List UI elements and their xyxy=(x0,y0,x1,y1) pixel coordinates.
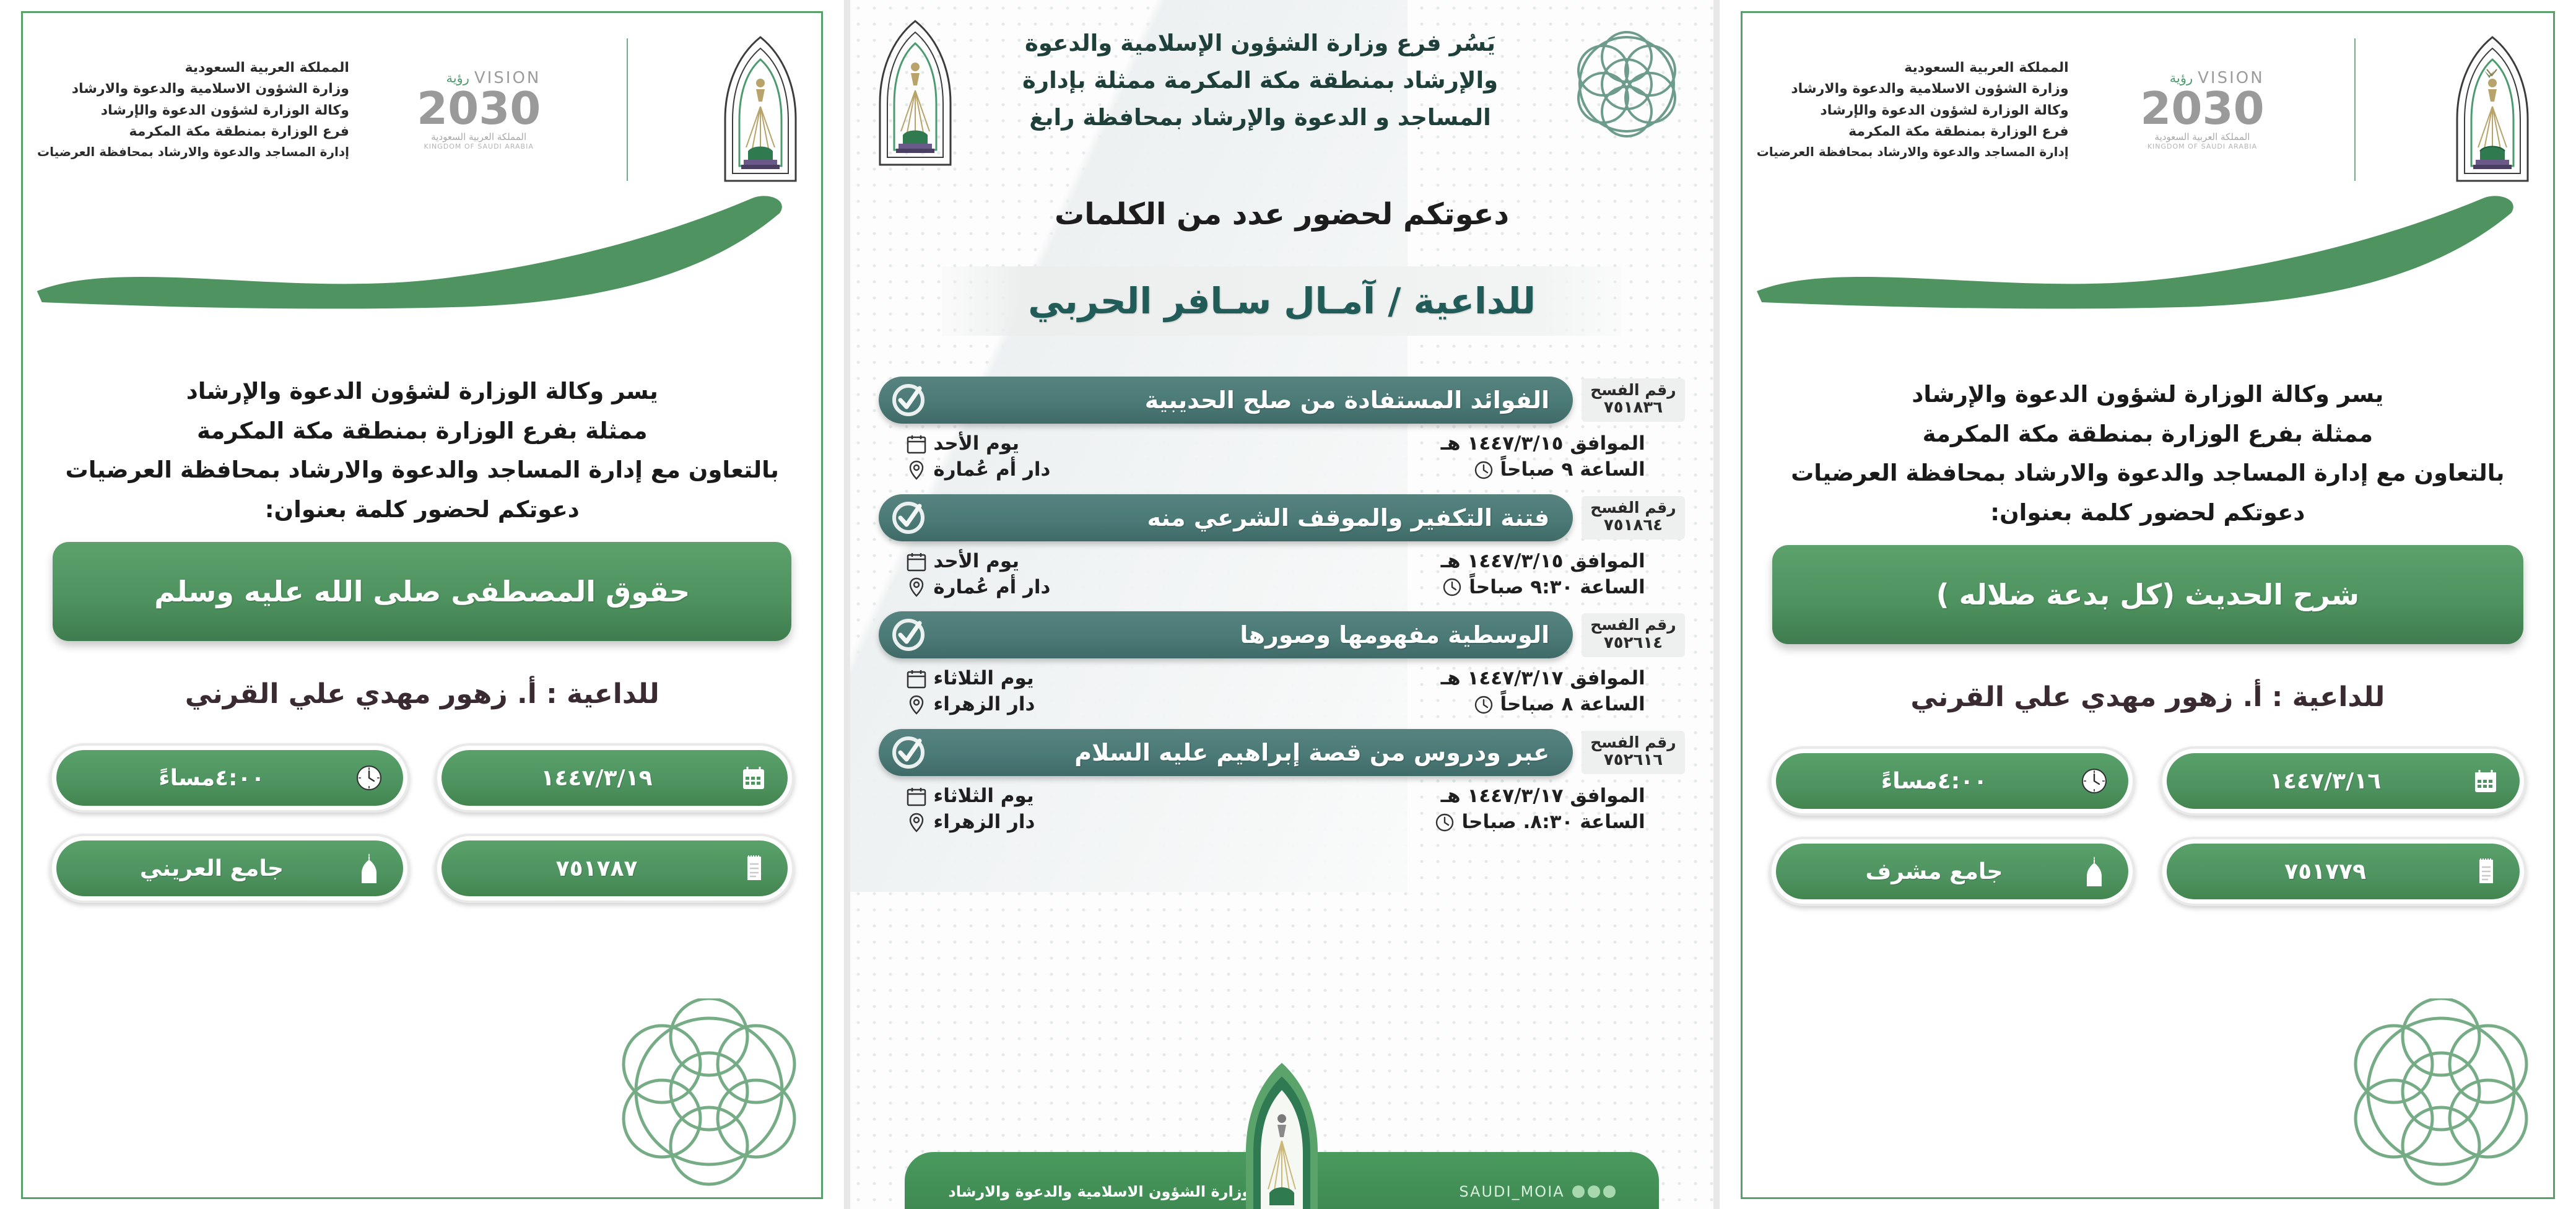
permit-box: رقم الفسح ٧٥١٨٣٦ xyxy=(1582,378,1684,422)
ministry-line-1: المملكة العربية السعودية xyxy=(1757,58,2069,79)
event-day: يوم الثلاثاء xyxy=(933,666,1033,692)
event-day: يوم الأحد xyxy=(933,549,1019,575)
event-meta: الموافق ١٤٤٧/٣/١٥ هـ يوم الأحد الساعة ٩:… xyxy=(879,541,1684,604)
vision-sub-en: KINGDOM OF SAUDI ARABIA xyxy=(2140,142,2264,151)
permit-number: ٧٥٢٦١٤ xyxy=(1590,634,1676,652)
footer-emblem-icon xyxy=(1232,1060,1331,1209)
event-venue: دار أم عُمارة xyxy=(933,575,1050,601)
event-item: رقم الفسح ٧٥٢٦١٤ الوسطية مفهومها وصورها xyxy=(879,611,1684,722)
event-title-pill: الفوائد المستفادة من صلح الحديبية xyxy=(879,377,1573,424)
event-title-pill: فتنة التكفير والموقف الشرعي منه xyxy=(879,494,1573,541)
badge-permit-value: ٧٥١٧٧٩ xyxy=(2183,859,2468,884)
event-meta: الموافق ١٤٤٧/٣/١٥ هـ يوم الأحد الساعة ٩ … xyxy=(879,424,1684,487)
clock-icon xyxy=(2076,762,2112,800)
vision-sub-ar: المملكة العربية السعودية xyxy=(417,131,541,142)
event-date: الموافق ١٤٤٧/٣/١٧ هـ xyxy=(1441,783,1645,810)
ministry-line-4: فرع الوزارة بمنطقة مكة المكرمة xyxy=(37,121,349,142)
event-title-pill: الوسطية مفهومها وصورها xyxy=(879,611,1573,658)
middle-footer: SAUDI_MOIA وزارة الشؤون الاسلامية والدعو… xyxy=(850,1135,1713,1209)
geometric-ornament-icon xyxy=(2330,998,2552,1197)
poster-middle: يَسُر فرع وزارة الشؤون الإسلامية والدعوة… xyxy=(850,0,1713,1209)
body-line-3: بالتعاون مع إدارة المساجد والدعوة والارش… xyxy=(37,450,807,490)
permit-label: رقم الفسح xyxy=(1590,735,1676,751)
ministry-line-5: إدارة المساجد والدعوة والارشاد بمحافظة ا… xyxy=(1757,142,2069,162)
event-meta: الموافق ١٤٤٧/٣/١٧ هـ يوم الثلاثاء الساعة… xyxy=(879,658,1684,722)
event-time: الساعة ٨:٣٠. صباحا xyxy=(1461,810,1645,836)
ministry-line-1: المملكة العربية السعودية xyxy=(37,58,349,79)
badge-permit-value: ٧٥١٧٨٧ xyxy=(458,856,736,881)
event-date: الموافق ١٤٤٧/٣/١٥ هـ xyxy=(1441,431,1645,457)
event-title-pill: عبر ودروس من قصة إبراهيم عليه السلام xyxy=(879,729,1573,776)
social-icons xyxy=(1572,1185,1616,1198)
ministry-line-2: وزارة الشؤون الاسلامية والدعوة والارشاد xyxy=(1757,79,2069,100)
events-list: رقم الفسح ٧٥١٨٣٦ الفوائد المستفادة من صل… xyxy=(879,377,1684,847)
invite-line: دعوتكم لحضور عدد من الكلمات xyxy=(850,197,1713,232)
event-title: فتنة التكفير والموقف الشرعي منه xyxy=(927,504,1557,531)
permit-number: ٧٥٢٦١٦ xyxy=(1590,751,1676,769)
panel-header: VISION رؤية 2030 المملكة العربية السعودي… xyxy=(1720,32,2576,187)
calendar-icon xyxy=(2468,762,2504,800)
body-line-3: بالتعاون مع إدارة المساجد والدعوة والارش… xyxy=(1757,453,2539,493)
invitation-body: يسر وكالة الوزارة لشؤون الدعوة والإرشاد … xyxy=(1757,375,2539,533)
vision-sub-ar: المملكة العربية السعودية xyxy=(2140,131,2264,142)
clock-icon xyxy=(1473,460,1494,481)
check-circle-icon xyxy=(890,499,927,536)
invitation-body: يسر وكالة الوزارة لشؤون الدعوة والإرشاد … xyxy=(37,372,807,530)
event-date: الموافق ١٤٤٧/٣/١٧ هـ xyxy=(1441,666,1645,692)
location-pin-icon xyxy=(906,694,927,715)
event-item: رقم الفسح ٧٥١٨٦٤ فتنة التكفير والموقف ال… xyxy=(879,494,1684,604)
badge-venue: جامع العريني xyxy=(50,834,410,903)
check-circle-icon xyxy=(890,616,927,653)
event-date: الموافق ١٤٤٧/٣/١٥ هـ xyxy=(1441,549,1645,575)
check-circle-icon xyxy=(890,734,927,771)
social-handle: SAUDI_MOIA xyxy=(1459,1183,1564,1200)
ministry-emblem-icon xyxy=(714,32,807,187)
ministry-title-block: المملكة العربية السعودية وزارة الشؤون ال… xyxy=(37,58,349,161)
badge-time-value: ٤:٠٠مساءً xyxy=(1792,769,2077,794)
panel-header: VISION رؤية 2030 المملكة العربية السعودي… xyxy=(0,32,844,187)
middle-header-text: يَسُر فرع وزارة الشؤون الإسلامية والدعوة… xyxy=(962,16,1558,136)
location-pin-icon xyxy=(906,812,927,833)
lecture-title-banner: حقوق المصطفى صلى الله عليه وسلم xyxy=(53,542,791,641)
poster-left: VISION رؤية 2030 المملكة العربية السعودي… xyxy=(1720,0,2576,1209)
badge-time: ٤:٠٠مساءً xyxy=(1769,746,2136,816)
calendar-icon xyxy=(736,759,772,797)
event-day: يوم الثلاثاء xyxy=(933,783,1033,810)
body-line-1: يسر وكالة الوزارة لشؤون الدعوة والإرشاد xyxy=(1757,375,2539,414)
ministry-line-3: وكالة الوزارة لشؤون الدعوة والإرشاد xyxy=(1757,100,2069,121)
lecture-title-banner: شرح الحديث (كل بدعة ضلاله ) xyxy=(1772,545,2523,644)
check-circle-icon xyxy=(890,382,927,419)
green-swoosh-decoration xyxy=(25,192,819,303)
permit-label: رقم الفسح xyxy=(1590,617,1676,633)
badge-time: ٤:٠٠مساءً xyxy=(50,743,410,813)
calendar-icon xyxy=(906,668,927,689)
ministry-line-2: وزارة الشؤون الاسلامية والدعوة والارشاد xyxy=(37,79,349,100)
location-pin-icon xyxy=(906,577,927,598)
permit-number: ٧٥١٨٦٤ xyxy=(1590,516,1676,535)
permit-number: ٧٥١٨٣٦ xyxy=(1590,398,1676,417)
event-title: عبر ودروس من قصة إبراهيم عليه السلام xyxy=(927,739,1557,766)
event-time: الساعة ٩ صباحاً xyxy=(1500,457,1645,483)
vision-2030-logo: VISION رؤية 2030 المملكة العربية السعودي… xyxy=(2140,69,2264,150)
document-icon xyxy=(736,849,772,888)
event-time: الساعة ٩:٣٠ صباحاً xyxy=(1469,575,1645,601)
body-line-4: دعوتكم لحضور كلمة بعنوان: xyxy=(37,490,807,530)
event-day: يوم الأحد xyxy=(933,431,1019,457)
clock-icon xyxy=(1442,577,1463,598)
body-line-2: ممثلة بفرع الوزارة بمنطقة مكة المكرمة xyxy=(1757,414,2539,454)
footer-ministry-name: وزارة الشؤون الاسلامية والدعوة والارشاد xyxy=(948,1183,1251,1200)
body-line-2: ممثلة بفرع الوزارة بمنطقة مكة المكرمة xyxy=(37,411,807,451)
clock-icon xyxy=(351,759,387,797)
permit-box: رقم الفسح ٧٥١٨٦٤ xyxy=(1582,496,1684,539)
panel-separator xyxy=(844,0,850,1209)
social-handle-group: SAUDI_MOIA xyxy=(1459,1183,1615,1200)
permit-label: رقم الفسح xyxy=(1590,382,1676,398)
badge-venue-value: جامع العريني xyxy=(72,856,351,881)
ministry-emblem-icon xyxy=(2446,32,2539,187)
header-divider xyxy=(2354,38,2356,181)
ministry-emblem-icon xyxy=(869,16,962,171)
clock-icon xyxy=(1434,812,1455,833)
event-meta: الموافق ١٤٤٧/٣/١٧ هـ يوم الثلاثاء الساعة… xyxy=(879,776,1684,839)
badge-date: ١٤٤٧/٣/١٦ xyxy=(2160,746,2526,816)
badge-date: ١٤٤٧/٣/١٩ xyxy=(435,743,795,813)
speaker-name: للداعية : أ. زهور مهدي علي القرني xyxy=(0,678,844,710)
vision-sub-en: KINGDOM OF SAUDI ARABIA xyxy=(417,142,541,151)
badge-venue-value: جامع مشرف xyxy=(1792,859,2077,884)
green-swoosh-decoration xyxy=(1744,192,2551,303)
speaker-band: للداعية / آمـال سـافر الحربي xyxy=(942,266,1621,336)
event-item: رقم الفسح ٧٥١٨٣٦ الفوائد المستفادة من صل… xyxy=(879,377,1684,487)
event-venue: دار أم عُمارة xyxy=(933,457,1050,483)
vision-year: 2030 xyxy=(2140,87,2264,129)
permit-box: رقم الفسح ٧٥٢٦١٦ xyxy=(1582,731,1684,774)
event-title: الوسطية مفهومها وصورها xyxy=(927,621,1557,648)
middle-panel-header: يَسُر فرع وزارة الشؤون الإسلامية والدعوة… xyxy=(869,16,1694,171)
poster-right: VISION رؤية 2030 المملكة العربية السعودي… xyxy=(0,0,844,1209)
badge-date-value: ١٤٤٧/٣/١٩ xyxy=(458,766,736,791)
poster-collage: VISION رؤية 2030 المملكة العربية السعودي… xyxy=(0,0,2576,1209)
calendar-icon xyxy=(906,786,927,807)
speaker-name: للداعية : أ. زهور مهدي علي القرني xyxy=(1720,681,2576,713)
geometric-ornament-icon xyxy=(598,998,820,1197)
body-line-1: يسر وكالة الوزارة لشؤون الدعوة والإرشاد xyxy=(37,372,807,411)
event-title: الفوائد المستفادة من صلح الحديبية xyxy=(927,386,1557,414)
event-item: رقم الفسح ٧٥٢٦١٦ عبر ودروس من قصة إبراهي… xyxy=(879,729,1684,839)
ministry-line-3: وكالة الوزارة لشؤون الدعوة والإرشاد xyxy=(37,100,349,121)
panel-separator xyxy=(1713,0,1720,1209)
ministry-title-block: المملكة العربية السعودية وزارة الشؤون ال… xyxy=(1757,58,2069,161)
ministry-line-4: فرع الوزارة بمنطقة مكة المكرمة xyxy=(1757,121,2069,142)
vision-2030-logo: VISION رؤية 2030 المملكة العربية السعودي… xyxy=(417,69,541,150)
header-divider xyxy=(627,38,628,181)
calendar-icon xyxy=(906,551,927,572)
ministry-line-5: إدارة المساجد والدعوة والارشاد بمحافظة ا… xyxy=(37,142,349,162)
detail-badges: ١٤٤٧/٣/١٦ ٤:٠٠مساءً xyxy=(1769,746,2526,906)
body-line-4: دعوتكم لحضور كلمة بعنوان: xyxy=(1757,493,2539,533)
permit-label: رقم الفسح xyxy=(1590,500,1676,516)
vision-year: 2030 xyxy=(417,87,541,129)
badge-permit-number: ٧٥١٧٧٩ xyxy=(2160,837,2526,906)
permit-box: رقم الفسح ٧٥٢٦١٤ xyxy=(1582,613,1684,657)
calendar-icon xyxy=(906,434,927,455)
mosque-icon xyxy=(2076,852,2112,891)
document-icon xyxy=(2468,852,2504,891)
event-time: الساعة ٨ صباحاً xyxy=(1500,692,1645,718)
event-venue: دار الزهراء xyxy=(933,692,1035,718)
detail-badges: ١٤٤٧/٣/١٩ ٤:٠٠مساءً xyxy=(50,743,794,903)
mosque-icon xyxy=(351,849,387,888)
event-venue: دار الزهراء xyxy=(933,810,1035,836)
badge-date-value: ١٤٤٧/٣/١٦ xyxy=(2183,769,2468,794)
clock-icon xyxy=(1473,694,1494,715)
badge-time-value: ٤:٠٠مساءً xyxy=(72,766,351,791)
badge-permit-number: ٧٥١٧٨٧ xyxy=(435,834,795,903)
badge-venue: جامع مشرف xyxy=(1769,837,2136,906)
rosette-ornament-icon xyxy=(1559,16,1695,152)
location-pin-icon xyxy=(906,460,927,481)
